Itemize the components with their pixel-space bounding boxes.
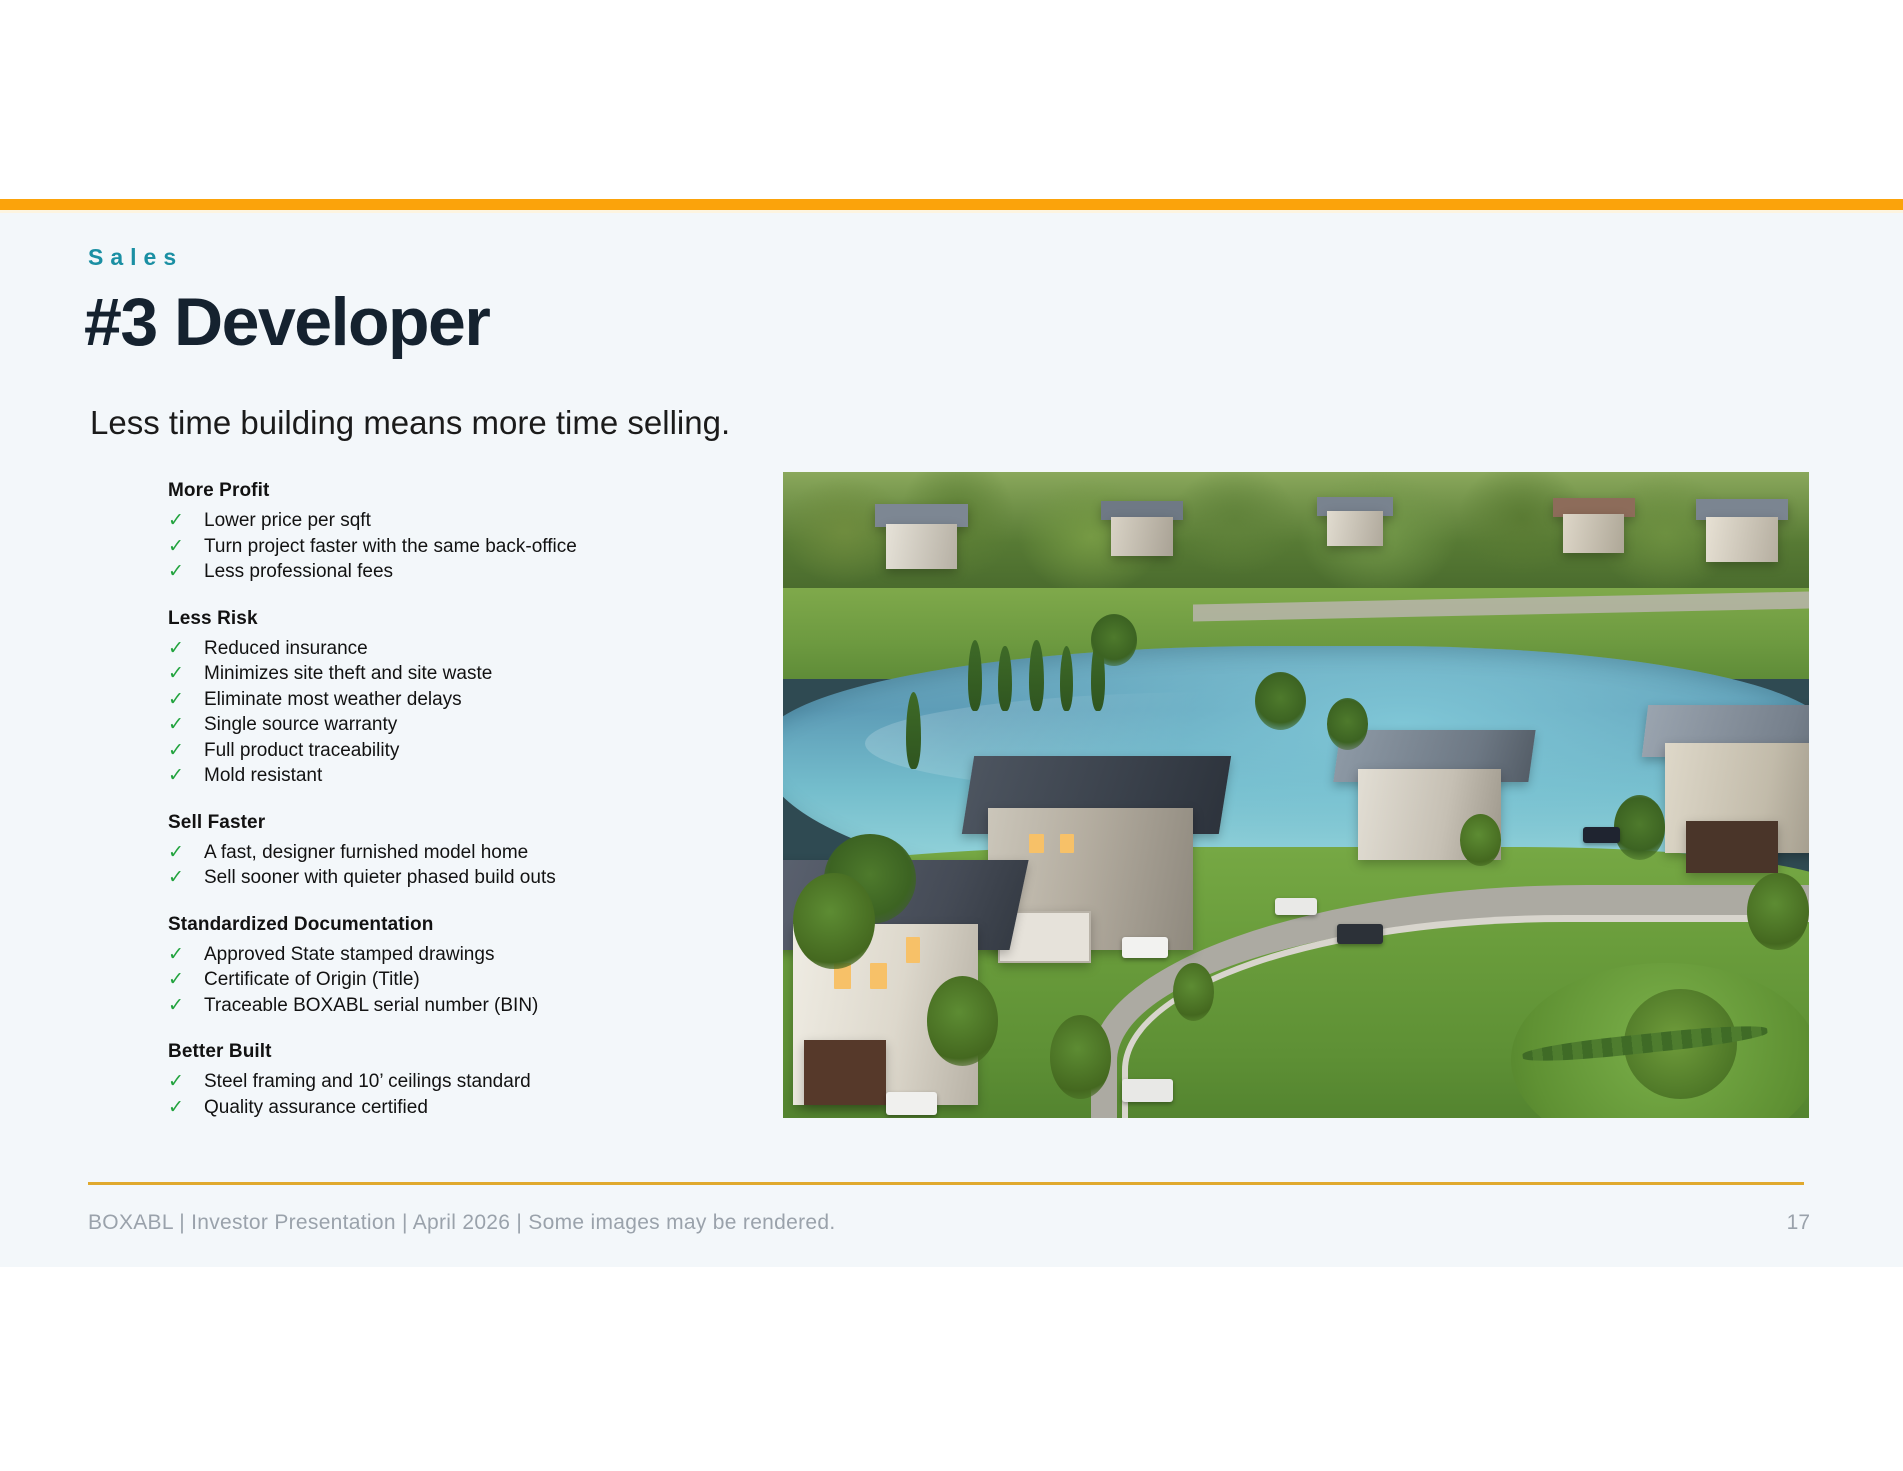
list-item-label: Eliminate most weather delays: [204, 687, 768, 713]
benefit-group: Better Built✓Steel framing and 10’ ceili…: [168, 1042, 768, 1120]
cypress-tree: [1029, 640, 1043, 711]
cypress-tree: [998, 646, 1011, 711]
list-item-label: Quality assurance certified: [204, 1095, 768, 1121]
lit-window: [906, 937, 920, 963]
list-item: ✓Certificate of Origin (Title): [168, 967, 768, 993]
checkmark-icon: ✓: [168, 967, 204, 993]
parked-car: [886, 1092, 937, 1115]
top-accent-bar-highlight: [0, 210, 1903, 213]
checkmark-icon: ✓: [168, 763, 204, 789]
checkmark-icon: ✓: [168, 840, 204, 866]
distant-house: [1563, 514, 1625, 553]
list-item: ✓Reduced insurance: [168, 636, 768, 662]
list-item-label: Traceable BOXABL serial number (BIN): [204, 993, 768, 1019]
checkmark-icon: ✓: [168, 636, 204, 662]
benefits-list: More Profit✓Lower price per sqft✓Turn pr…: [168, 481, 768, 1120]
checkmark-icon: ✓: [168, 661, 204, 687]
top-accent-bar: [0, 199, 1903, 210]
list-item: ✓Less professional fees: [168, 559, 768, 585]
distant-house: [886, 524, 958, 569]
tree: [1460, 814, 1501, 866]
benefit-group-heading: Sell Faster: [168, 813, 768, 832]
list-item: ✓Eliminate most weather delays: [168, 687, 768, 713]
benefit-group-heading: Less Risk: [168, 609, 768, 628]
list-item: ✓Approved State stamped drawings: [168, 942, 768, 968]
list-item-label: Minimizes site theft and site waste: [204, 661, 768, 687]
tree: [927, 976, 999, 1066]
benefit-group: More Profit✓Lower price per sqft✓Turn pr…: [168, 481, 768, 585]
distant-house: [1706, 517, 1778, 562]
right-house-garage: [1686, 821, 1778, 873]
checkmark-icon: ✓: [168, 559, 204, 585]
page-number: 17: [1760, 1210, 1810, 1235]
list-item: ✓Steel framing and 10’ ceilings standard: [168, 1069, 768, 1095]
checkmark-icon: ✓: [168, 687, 204, 713]
footer-text: BOXABL | Investor Presentation | April 2…: [88, 1210, 836, 1235]
parked-car: [1275, 898, 1316, 915]
list-item-label: Certificate of Origin (Title): [204, 967, 768, 993]
list-item-label: Reduced insurance: [204, 636, 768, 662]
tree: [793, 873, 875, 970]
list-item-label: Single source warranty: [204, 712, 768, 738]
slide-canvas: Sales #3 Developer Less time building me…: [0, 0, 1903, 1471]
list-item: ✓Single source warranty: [168, 712, 768, 738]
parked-car: [1122, 1079, 1173, 1102]
list-item-label: Full product traceability: [204, 738, 768, 764]
palm-tree: [1614, 795, 1665, 860]
page-subtitle: Less time building means more time selli…: [90, 403, 730, 443]
list-item-label: Mold resistant: [204, 763, 768, 789]
section-eyebrow: Sales: [88, 246, 183, 269]
checkmark-icon: ✓: [168, 534, 204, 560]
list-item-label: Lower price per sqft: [204, 508, 768, 534]
list-item: ✓Quality assurance certified: [168, 1095, 768, 1121]
distant-house: [1111, 517, 1173, 556]
tree: [1173, 963, 1214, 1021]
parked-car: [1583, 827, 1620, 843]
checkmark-icon: ✓: [168, 865, 204, 891]
checkmark-icon: ✓: [168, 1069, 204, 1095]
list-item: ✓Minimizes site theft and site waste: [168, 661, 768, 687]
neighborhood-photo: [783, 472, 1809, 1118]
list-item: ✓Sell sooner with quieter phased build o…: [168, 865, 768, 891]
list-item-label: Less professional fees: [204, 559, 768, 585]
list-item-label: Turn project faster with the same back-o…: [204, 534, 768, 560]
checkmark-icon: ✓: [168, 942, 204, 968]
benefit-group: Less Risk✓Reduced insurance✓Minimizes si…: [168, 609, 768, 789]
list-item-label: A fast, designer furnished model home: [204, 840, 768, 866]
list-item: ✓Turn project faster with the same back-…: [168, 534, 768, 560]
checkmark-icon: ✓: [168, 1095, 204, 1121]
tree: [1747, 873, 1809, 951]
tree: [1050, 1015, 1112, 1099]
list-item-label: Sell sooner with quieter phased build ou…: [204, 865, 768, 891]
benefit-group-heading: More Profit: [168, 481, 768, 500]
footer-divider: [88, 1182, 1804, 1185]
checkmark-icon: ✓: [168, 738, 204, 764]
checkmark-icon: ✓: [168, 993, 204, 1019]
lit-window: [1029, 834, 1043, 853]
lit-window: [1060, 834, 1074, 853]
list-item: ✓A fast, designer furnished model home: [168, 840, 768, 866]
list-item: ✓Traceable BOXABL serial number (BIN): [168, 993, 768, 1019]
page-title: #3 Developer: [84, 288, 489, 356]
list-item: ✓Full product traceability: [168, 738, 768, 764]
parked-car: [1337, 924, 1383, 943]
list-item: ✓Lower price per sqft: [168, 508, 768, 534]
list-item: ✓Mold resistant: [168, 763, 768, 789]
foreground-house-garage: [804, 1040, 886, 1105]
photo-scene: [783, 472, 1809, 1118]
benefit-group-heading: Better Built: [168, 1042, 768, 1061]
checkmark-icon: ✓: [168, 508, 204, 534]
benefit-group-heading: Standardized Documentation: [168, 915, 768, 934]
parked-car: [1122, 937, 1168, 958]
list-item-label: Steel framing and 10’ ceilings standard: [204, 1069, 768, 1095]
benefit-group: Sell Faster✓A fast, designer furnished m…: [168, 813, 768, 891]
distant-house: [1327, 511, 1383, 547]
benefit-group: Standardized Documentation✓Approved Stat…: [168, 915, 768, 1019]
palm-tree: [1327, 698, 1368, 750]
list-item-label: Approved State stamped drawings: [204, 942, 768, 968]
lit-window: [870, 963, 886, 989]
palm-tree: [1091, 614, 1137, 666]
checkmark-icon: ✓: [168, 712, 204, 738]
